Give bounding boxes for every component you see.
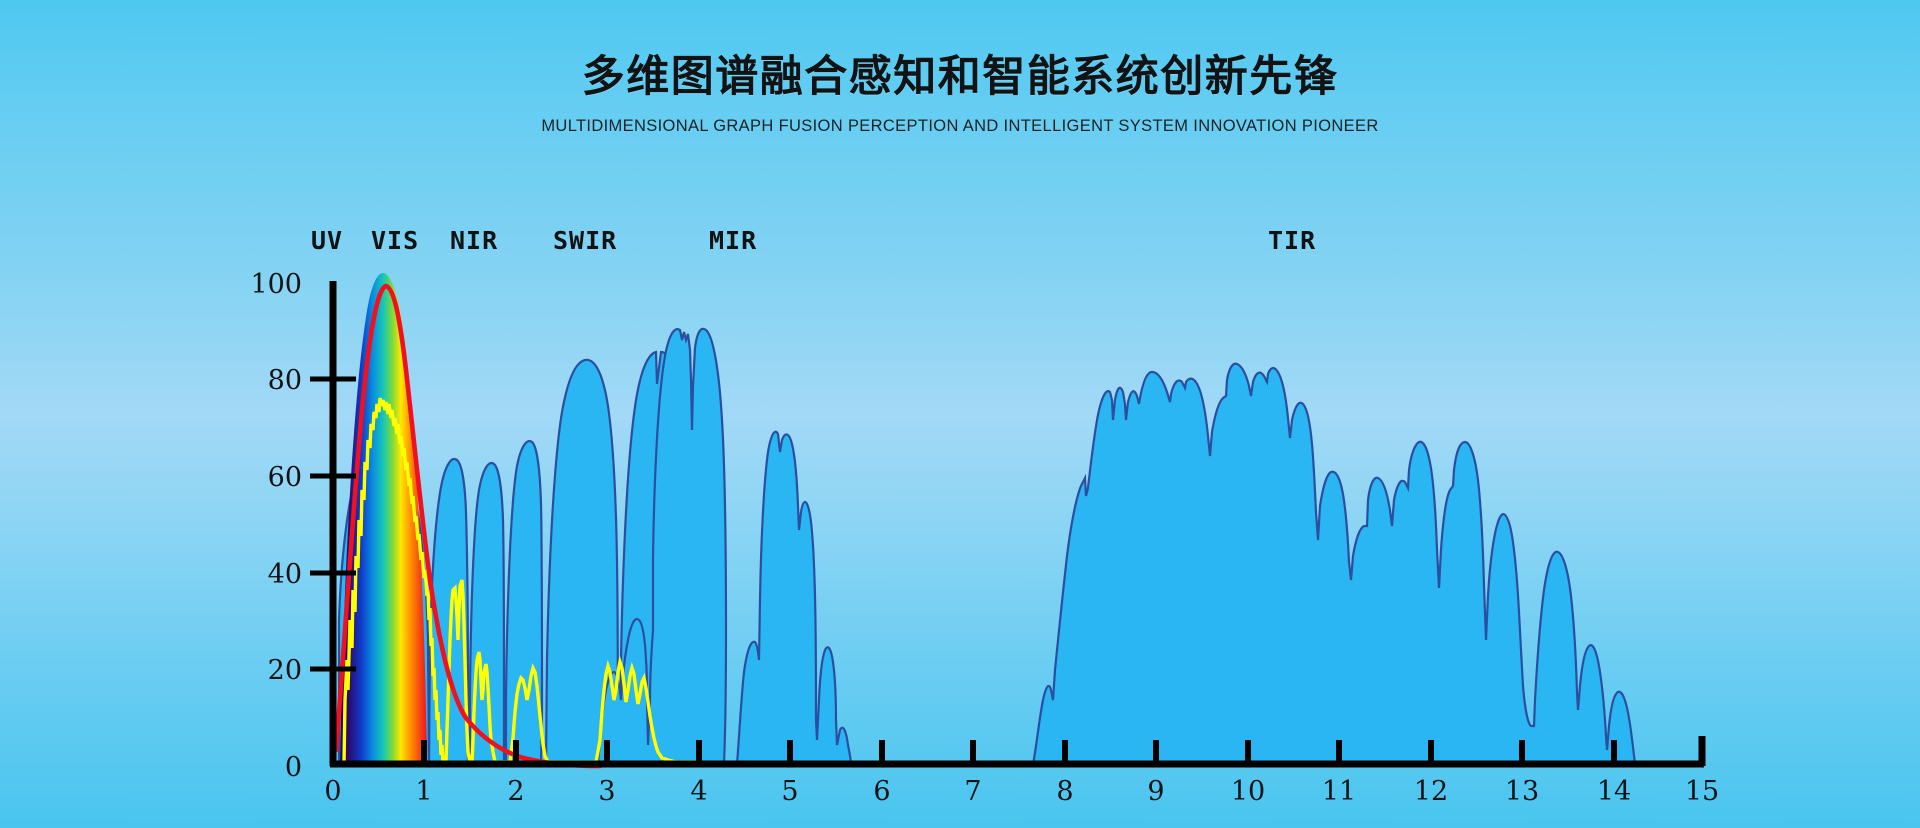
y-tick-100: 100 [250,269,302,300]
chart-canvas: 100 80 60 40 20 0 0 1 2 3 4 5 6 7 8 9 10… [0,0,1920,828]
x-tick-12: 12 [1414,776,1448,807]
x-tick-13: 13 [1505,776,1539,807]
window-mir-b [737,432,851,764]
x-tick-labels: 0 1 2 3 4 5 6 7 8 9 10 11 12 13 14 15 [324,776,1719,807]
window-tir [1033,364,1635,764]
x-tick-10: 10 [1231,776,1265,807]
x-tick-15: 15 [1685,776,1719,807]
x-tick-0: 0 [324,776,341,807]
x-tick-14: 14 [1597,776,1631,807]
y-tick-labels: 100 80 60 40 20 0 [250,269,302,783]
x-tick-7: 7 [964,776,981,807]
x-tick-9: 9 [1147,776,1164,807]
x-tick-8: 8 [1056,776,1073,807]
y-tick-80: 80 [268,365,302,396]
window-nir-3 [506,441,542,764]
y-tick-60: 60 [268,462,302,493]
spectrum-chart: UV VIS NIR SWIR MIR TIR [0,0,1920,828]
y-tick-40: 40 [268,559,302,590]
y-tick-20: 20 [268,655,302,686]
x-tick-6: 6 [873,776,890,807]
x-tick-5: 5 [781,776,798,807]
transmission-windows-group [339,329,1635,764]
x-tick-11: 11 [1322,776,1356,807]
x-tick-3: 3 [598,776,615,807]
x-tick-2: 2 [507,776,524,807]
y-tick-0: 0 [285,752,302,783]
x-tick-1: 1 [415,776,432,807]
x-tick-4: 4 [690,776,707,807]
